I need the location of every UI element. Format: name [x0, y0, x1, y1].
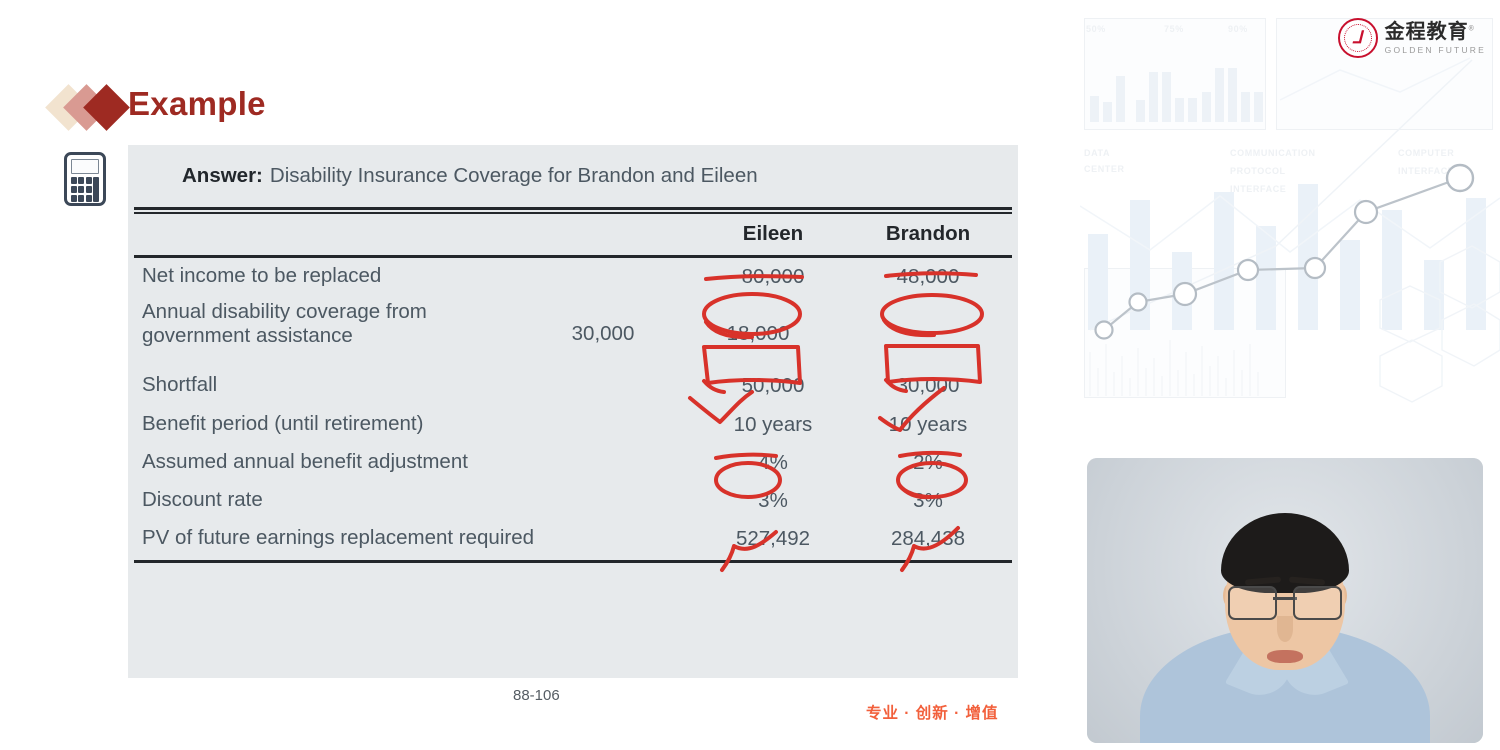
brand-name-en: GOLDEN FUTURE	[1385, 45, 1486, 55]
brand-name-cn: 金程教育®	[1385, 22, 1486, 42]
bg-ghost-label-4: DATA	[1084, 148, 1110, 158]
row-value-eileen: 4%	[698, 451, 848, 475]
row-value-eileen: 3%	[698, 489, 848, 513]
brand-trademark: ®	[1469, 25, 1475, 32]
row-value-brandon: 48,000	[848, 265, 1008, 289]
rule-top	[134, 207, 1012, 210]
bg-ghost-label-8: INTERFACE	[1230, 184, 1286, 194]
column-header-brandon: Brandon	[848, 222, 1008, 246]
row-label: Annual disability coverage from governme…	[128, 300, 528, 348]
row-value-eileen: 80,000	[698, 265, 848, 289]
bg-line-chart	[1080, 0, 1500, 460]
bg-people-group-3	[1202, 38, 1263, 122]
bg-people-group-2	[1136, 38, 1197, 122]
brand-seal-glyph: ⅃	[1340, 28, 1376, 48]
answer-table-panel: Answer: Disability Insurance Coverage fo…	[128, 145, 1018, 678]
bg-panel-waveform	[1084, 268, 1286, 398]
bg-people-group-1	[1090, 38, 1125, 122]
row-label: Shortfall	[128, 373, 698, 397]
table-row: PV of future earnings replacement requir…	[128, 520, 1018, 558]
diamond-logo-icon	[50, 84, 132, 134]
row-value-brandon: 284,438	[848, 527, 1008, 551]
tagline: 专业 · 创新 · 增值	[866, 701, 999, 723]
answer-header: Answer: Disability Insurance Coverage fo…	[128, 145, 1018, 207]
table-row: Net income to be replaced 80,000 48,000	[128, 258, 1018, 296]
bg-bar-chart	[1080, 150, 1500, 330]
column-header-eileen: Eileen	[698, 222, 848, 246]
row-value-eileen: 10 years	[698, 413, 848, 437]
row-label: Benefit period (until retirement)	[128, 412, 698, 436]
row-value-brandon: 3%	[848, 489, 1008, 513]
row-value-eileen: 50,000	[698, 374, 848, 398]
bg-ghost-label-10: INTERFACE	[1398, 166, 1454, 176]
presenter-nose	[1277, 616, 1293, 642]
bg-ghost-label-2: 75%	[1164, 24, 1184, 34]
row-label: Assumed annual benefit adjustment	[128, 450, 698, 474]
calculator-screen	[71, 159, 99, 174]
table-column-header: Eileen Brandon	[128, 214, 1018, 255]
calculator-keys	[71, 177, 99, 202]
bg-ghost-label-7: PROTOCOL	[1230, 166, 1286, 176]
row-value-eileen: 30,000	[528, 300, 678, 346]
presenter-video[interactable]	[1087, 458, 1483, 743]
glasses-lens-right	[1293, 586, 1342, 620]
row-value-eileen: 527,492	[698, 527, 848, 551]
bg-ghost-label-1: 50%	[1086, 24, 1106, 34]
bg-ghost-label-9: COMPUTER	[1398, 148, 1454, 158]
glasses-lens-left	[1228, 586, 1277, 620]
table-row: Benefit period (until retirement) 10 yea…	[128, 406, 1018, 444]
presenter-glasses	[1228, 586, 1342, 616]
table-row: Annual disability coverage from governme…	[128, 296, 1018, 366]
brand-seal-icon: ⅃	[1338, 18, 1378, 58]
row-label: Net income to be replaced	[128, 264, 698, 288]
presenter-mouth	[1267, 650, 1303, 663]
row-label: Discount rate	[128, 488, 698, 512]
rule-bottom	[134, 560, 1012, 563]
table-row: Assumed annual benefit adjustment 4% 2%	[128, 444, 1018, 482]
bg-panel-people-chart	[1084, 18, 1266, 130]
row-label: PV of future earnings replacement requir…	[128, 526, 698, 550]
bg-ghost-label-5: CENTER	[1084, 164, 1125, 174]
answer-prefix: Answer:	[182, 164, 263, 188]
calculator-icon	[64, 152, 106, 206]
background-artwork: 50% 75% 90% DATA CENTER COMMUNICATION PR…	[1080, 0, 1500, 460]
table-row: Discount rate 3% 3%	[128, 482, 1018, 520]
row-value-brandon: 2%	[848, 451, 1008, 475]
row-value-brandon: 18,000	[678, 300, 838, 346]
answer-title: Disability Insurance Coverage for Brando…	[270, 164, 758, 188]
brand-logo: ⅃ 金程教育® GOLDEN FUTURE	[1338, 18, 1486, 58]
bg-ghost-label-3: 90%	[1228, 24, 1248, 34]
page-title: Example	[128, 85, 266, 123]
row-value-brandon: 30,000	[848, 374, 1008, 398]
row-value-brandon: 10 years	[848, 413, 1008, 437]
bg-ghost-label-6: COMMUNICATION	[1230, 148, 1316, 158]
table-row: Shortfall 50,000 30,000	[128, 366, 1018, 406]
page-number: 88-106	[513, 687, 560, 704]
